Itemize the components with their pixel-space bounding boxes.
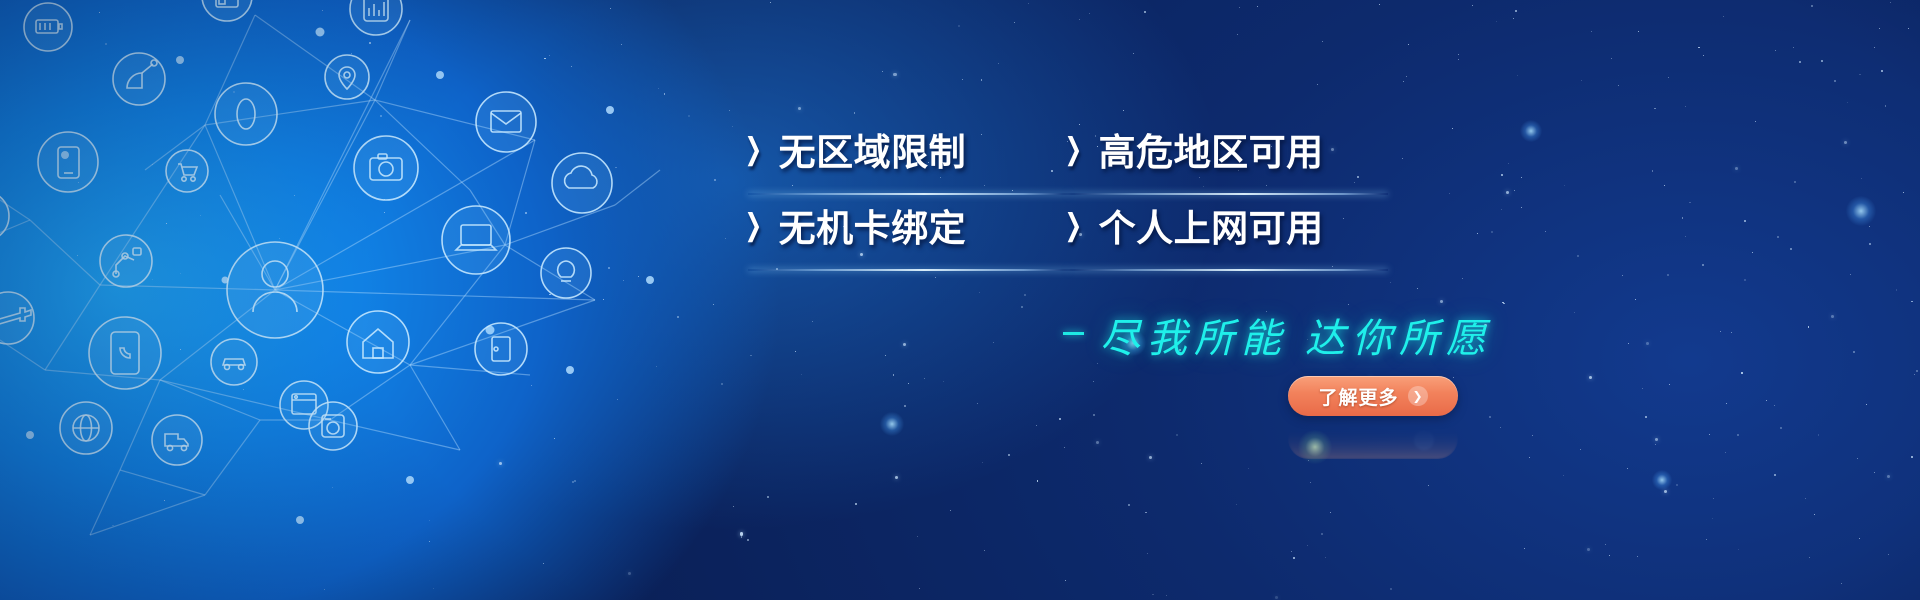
feature-underline	[748, 269, 1068, 271]
learn-more-button[interactable]: 了解更多 ❯	[1288, 376, 1458, 416]
feature-underline	[748, 193, 1068, 195]
iot-network-diagram	[0, 0, 690, 600]
chevron-right-icon: ❯	[744, 134, 762, 164]
chevron-right-icon: ❯	[744, 210, 762, 240]
slogan: 尽我所能 达你所愿	[1063, 306, 1493, 364]
feature-grid: ❯ 无区域限制 ❯ 高危地区可用 ❯ 无机卡绑定	[742, 121, 1382, 271]
washing-machine-node	[0, 0, 690, 600]
cta-label: 了解更多	[1318, 383, 1398, 410]
feature-cell: ❯ 无区域限制	[742, 121, 1062, 195]
cta-reflection-arrow	[1414, 430, 1434, 450]
glow-dot	[1520, 120, 1542, 142]
chevron-right-icon: ❯	[1064, 210, 1082, 240]
cta-reflection	[1288, 419, 1458, 459]
feature-row: ❯ 无区域限制 ❯ 高危地区可用	[742, 121, 1382, 195]
glow-dot	[1652, 470, 1672, 490]
vignette-overlay	[0, 0, 1920, 600]
starfield-decoration	[0, 0, 1920, 600]
feature-label: 高危地区可用	[1099, 122, 1324, 176]
feature-item-high-risk-area: ❯ 高危地区可用	[1062, 121, 1382, 177]
feature-label: 无区域限制	[779, 122, 967, 176]
cta-container: 了解更多 ❯	[1288, 376, 1458, 459]
feature-label: 个人上网可用	[1099, 198, 1324, 252]
glow-dot	[1846, 196, 1876, 226]
feature-item-personal-internet: ❯ 个人上网可用	[1062, 197, 1382, 253]
slogan-dash	[1063, 332, 1084, 335]
feature-cell: ❯ 个人上网可用	[1062, 197, 1382, 271]
feature-underline	[1068, 193, 1388, 195]
promo-banner: ❯ 无区域限制 ❯ 高危地区可用 ❯ 无机卡绑定	[0, 0, 1920, 600]
feature-item-no-region-limit: ❯ 无区域限制	[742, 121, 1062, 177]
feature-label: 无机卡绑定	[779, 198, 967, 252]
feature-cell: ❯ 无机卡绑定	[742, 197, 1062, 271]
feature-item-no-sim-binding: ❯ 无机卡绑定	[742, 197, 1062, 253]
feature-underline	[1068, 269, 1388, 271]
arrow-right-icon: ❯	[1408, 386, 1428, 406]
glow-dot	[880, 412, 904, 436]
chevron-right-icon: ❯	[1064, 134, 1082, 164]
feature-row: ❯ 无机卡绑定 ❯ 个人上网可用	[742, 197, 1382, 271]
feature-cell: ❯ 高危地区可用	[1062, 121, 1382, 195]
slogan-text: 尽我所能 达你所愿	[1100, 306, 1493, 364]
